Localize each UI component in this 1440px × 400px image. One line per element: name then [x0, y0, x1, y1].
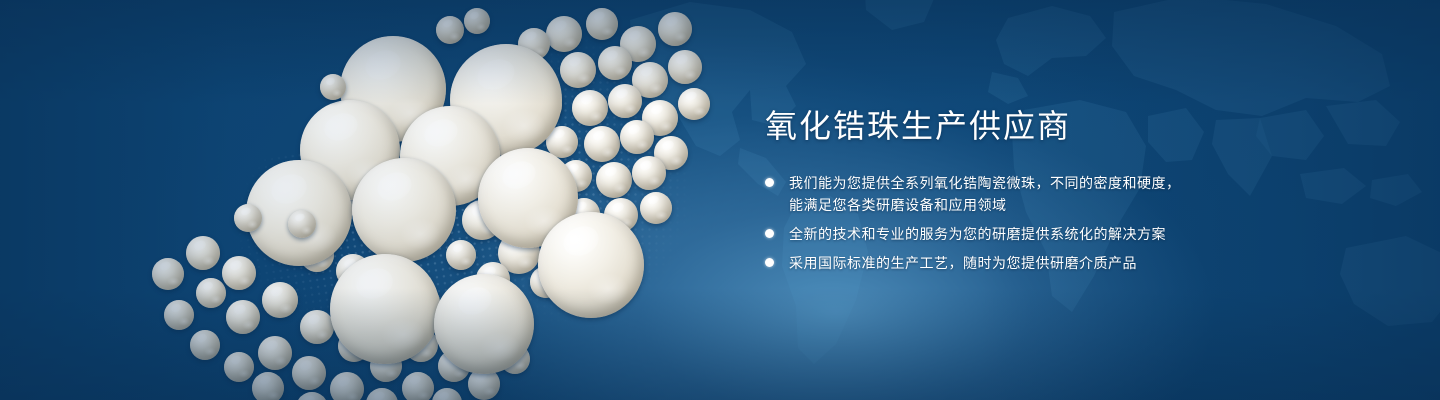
feature-item: 采用国际标准的生产工艺，随时为您提供研磨介质产品: [765, 252, 1365, 274]
banner-feature-list: 我们能为您提供全系列氧化锆陶瓷微珠，不同的密度和硬度， 能满足您各类研磨设备和应…: [765, 172, 1365, 274]
feature-text-line-1: 采用国际标准的生产工艺，随时为您提供研磨介质产品: [789, 255, 1137, 271]
feature-item: 我们能为您提供全系列氧化锆陶瓷微珠，不同的密度和硬度， 能满足您各类研磨设备和应…: [765, 172, 1365, 216]
hero-banner: 氧化锆珠生产供应商 我们能为您提供全系列氧化锆陶瓷微珠，不同的密度和硬度， 能满…: [0, 0, 1440, 400]
bullet-dot-icon: [765, 178, 774, 187]
feature-text-line-1: 我们能为您提供全系列氧化锆陶瓷微珠，不同的密度和硬度，: [789, 175, 1181, 191]
feature-text-line-1: 全新的技术和专业的服务为您的研磨提供系统化的解决方案: [789, 226, 1166, 242]
bullet-dot-icon: [765, 229, 774, 238]
banner-content: 氧化锆珠生产供应商 我们能为您提供全系列氧化锆陶瓷微珠，不同的密度和硬度， 能满…: [765, 106, 1365, 281]
feature-item: 全新的技术和专业的服务为您的研磨提供系统化的解决方案: [765, 223, 1365, 245]
bullet-dot-icon: [765, 258, 774, 267]
banner-headline: 氧化锆珠生产供应商: [765, 106, 1365, 146]
feature-text-line-2: 能满足您各类研磨设备和应用领域: [789, 194, 1365, 216]
